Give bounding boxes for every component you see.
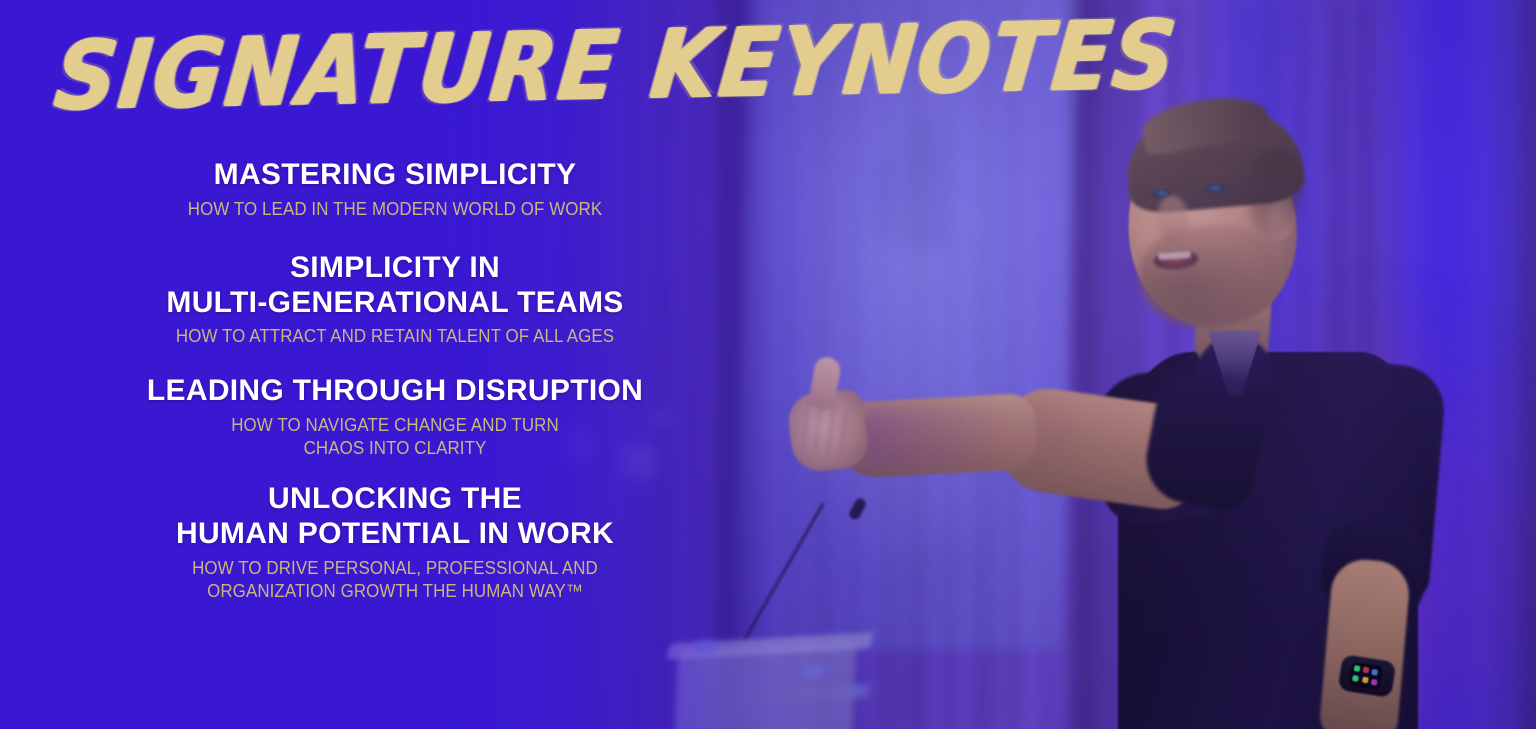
- keynote-subtitle-line: HOW TO ATTRACT AND RETAIN TALENT OF ALL …: [24, 325, 767, 348]
- watch-app-icon: [1352, 675, 1359, 682]
- watch-app-icon: [1363, 666, 1370, 673]
- keynote-item-unlocking-the-human-potential-in-work: UNLOCKING THE HUMAN POTENTIAL IN WORK HO…: [0, 482, 790, 603]
- keynote-title-line: UNLOCKING THE: [0, 482, 790, 517]
- keynote-title-line: MULTI-GENERATIONAL TEAMS: [0, 286, 790, 321]
- keynote-item-leading-through-disruption: LEADING THROUGH DISRUPTION HOW TO NAVIGA…: [0, 374, 790, 460]
- keynote-title-line: LEADING THROUGH DISRUPTION: [0, 374, 790, 409]
- smartwatch-face: [1348, 662, 1383, 691]
- keynote-subtitle: HOW TO ATTRACT AND RETAIN TALENT OF ALL …: [24, 325, 767, 348]
- keynote-title-line: SIMPLICITY IN: [0, 251, 790, 286]
- watch-app-icon: [1371, 679, 1378, 686]
- watch-app-icon: [1354, 665, 1361, 672]
- keynote-item-simplicity-in-multi-generational-teams: SIMPLICITY IN MULTI-GENERATIONAL TEAMS H…: [0, 251, 790, 349]
- keynote-title: LEADING THROUGH DISRUPTION: [0, 374, 790, 409]
- keynote-subtitle-line: HOW TO LEAD IN THE MODERN WORLD OF WORK: [24, 198, 767, 221]
- speaker-nose: [1158, 196, 1188, 244]
- speaker-arm-shadow: [856, 408, 1076, 464]
- keynote-title: UNLOCKING THE HUMAN POTENTIAL IN WORK: [0, 482, 790, 552]
- keynote-subtitle-line: HOW TO DRIVE PERSONAL, PROFESSIONAL AND: [24, 557, 767, 580]
- speaker-left-arm: [1318, 557, 1411, 729]
- keynote-title-line: MASTERING SIMPLICITY: [0, 158, 790, 193]
- watch-app-icon: [1362, 677, 1369, 684]
- keynote-item-mastering-simplicity: MASTERING SIMPLICITY HOW TO LEAD IN THE …: [0, 158, 790, 221]
- keynotes-banner: SIGNATURE KEYNOTES MASTERING SIMPLICITY …: [0, 0, 1536, 729]
- keynote-subtitle-line: ORGANIZATION GROWTH THE HUMAN WAY™: [24, 580, 767, 603]
- watch-app-icon: [1371, 669, 1378, 676]
- page-title: SIGNATURE KEYNOTES: [51, 16, 762, 124]
- keynote-subtitle: HOW TO DRIVE PERSONAL, PROFESSIONAL AND …: [24, 557, 767, 603]
- keynote-subtitle: HOW TO LEAD IN THE MODERN WORLD OF WORK: [24, 198, 767, 221]
- keynote-title: MASTERING SIMPLICITY: [0, 158, 790, 193]
- keynote-title-line: HUMAN POTENTIAL IN WORK: [0, 517, 790, 552]
- speaker-stubble: [1136, 232, 1264, 324]
- keynote-subtitle: HOW TO NAVIGATE CHANGE AND TURN CHAOS IN…: [24, 414, 767, 460]
- keynote-subtitle-line: CHAOS INTO CLARITY: [24, 437, 767, 460]
- keynote-list: MASTERING SIMPLICITY HOW TO LEAD IN THE …: [0, 158, 790, 603]
- keynote-title: SIMPLICITY IN MULTI-GENERATIONAL TEAMS: [0, 251, 790, 321]
- keynote-subtitle-line: HOW TO NAVIGATE CHANGE AND TURN: [24, 414, 767, 437]
- text-content: SIGNATURE KEYNOTES MASTERING SIMPLICITY …: [0, 0, 790, 729]
